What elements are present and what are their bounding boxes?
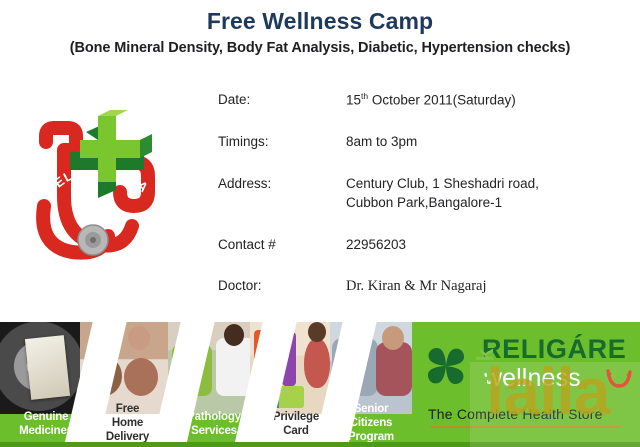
wellness-camp-logo-icon: WELLNESS CAMP [16,96,166,268]
poster-header: Free Wellness Camp (Bone Mineral Density… [0,0,640,57]
services-panel-strip: Genuine Medicines Free Home [0,322,400,447]
clover-icon [420,340,472,392]
detail-value-date: 15th October 2011(Saturday) [346,90,618,110]
services-banner: Genuine Medicines Free Home [0,322,640,447]
tagline-underline [430,426,620,428]
detail-value-timings: 8am to 3pm [346,132,618,152]
date-day: 15 [346,93,361,108]
religare-product-name: wellness [484,366,581,391]
detail-value-address: Century Club, 1 Sheshadri road, Cubbon P… [346,174,618,213]
date-rest: October 2011(Saturday) [368,93,516,108]
camp-details-table: Date: 15th October 2011(Saturday) Timing… [218,90,618,297]
page-subtitle: (Bone Mineral Density, Body Fat Analysis… [0,41,640,57]
swoosh-icon [606,369,632,389]
detail-label-timings: Timings: [218,132,346,152]
religare-tagline: The Complete Health Store [428,406,603,422]
detail-value-doctor: Dr. Kiran & Mr Nagaraj [346,276,618,297]
address-line-1: Century Club, 1 Sheshadri road, [346,176,539,191]
address-line-2: Cubbon Park,Bangalore-1 [346,193,618,213]
religare-wellness-logo: RELIGÁRE wellness The Complete Health St… [410,322,640,447]
detail-label-doctor: Doctor: [218,276,346,296]
wellness-camp-logo: WELLNESS CAMP [16,96,166,268]
detail-row-date: Date: 15th October 2011(Saturday) [218,90,618,110]
detail-row-address: Address: Century Club, 1 Sheshadri road,… [218,174,618,213]
detail-value-contact: 22956203 [346,235,618,255]
banner-bottom-strip [0,442,640,447]
page-title: Free Wellness Camp [0,9,640,34]
detail-row-contact: Contact # 22956203 [218,235,618,255]
religare-brand-name: RELIGÁRE [482,336,626,363]
detail-row-doctor: Doctor: Dr. Kiran & Mr Nagaraj [218,276,618,297]
detail-label-address: Address: [218,174,346,194]
detail-label-date: Date: [218,90,346,110]
wellness-camp-poster: Free Wellness Camp (Bone Mineral Density… [0,0,640,447]
detail-label-contact: Contact # [218,235,346,255]
detail-row-timings: Timings: 8am to 3pm [218,132,618,152]
